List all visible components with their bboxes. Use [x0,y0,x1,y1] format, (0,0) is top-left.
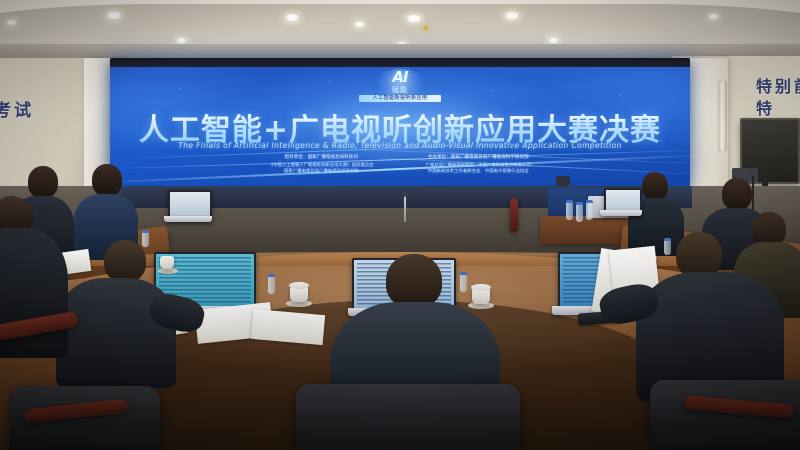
chair-wood-frame [510,198,518,232]
tea-cup-lid-icon [471,284,491,291]
led-screen-surface: AI 赋能 人工智能新视听新应用 人工智能+广电视听创新应用大赛决赛 The F… [110,67,690,186]
water-bottle-icon [576,202,583,222]
ceiling-spotlight [354,22,365,27]
attendee-torso [56,278,176,388]
document-papers [251,309,325,345]
office-chair-front[interactable] [296,384,520,450]
screen-title-english: The Finals of Artificial Intelligence & … [110,141,690,150]
right-wall-sign-line2: 特 [756,98,800,120]
wall-vent [718,80,727,152]
ceiling-indicator-light [424,26,428,30]
attendee-head [92,164,122,196]
organizer-column-left: 指导单位：国家广播电视总局科技司 《中国人工智能+广电视听创新应用大赛》组织委员… [269,155,374,174]
ceiling-spotlight [504,12,520,19]
attendee-head [104,240,146,282]
water-bottle-icon [142,230,149,247]
right-wall-sign: 特别前 特 [756,76,800,120]
ceiling-spotlight [708,14,719,19]
ceiling-spotlight [406,15,422,22]
organizer-right-head: 主办单位：国家广播电视总局广播电视科学研究院 [426,155,531,161]
ceiling-spotlight [548,38,559,43]
tea-cup-lid-icon [289,282,309,289]
ceiling-spotlight [106,12,122,19]
organizer-left-line: 国家广播电视总局广播电视科学研究院 [269,168,374,174]
organizer-left-head: 指导单位：国家广播电视总局科技司 [269,155,374,161]
organizer-right-line: 中国新闻技术工作者联合会、中国电子视像行业协会 [426,168,531,174]
water-bottle-icon [664,238,671,255]
conference-room-photo: 考试 特别前 特 AI 赋能 人工智能新视听新应用 人工智能+广电视听创新应用大… [0,0,800,450]
organizer-credits: 指导单位：国家广播电视总局科技司 《中国人工智能+广电视听创新应用大赛》组织委员… [110,155,690,174]
logo-band-text: 人工智能新视听新应用 [359,95,441,102]
logo-cn-text: 赋能 [352,86,448,94]
competition-logo: AI 赋能 人工智能新视听新应用 [352,69,448,103]
laptop-base [164,216,212,222]
attendee-head [386,254,442,308]
ceiling-camera-icon [556,176,570,186]
ceiling-spotlight [176,38,187,43]
tea-cup-icon [160,256,174,269]
ceiling [0,0,800,62]
organizer-column-right: 主办单位：国家广播电视总局广播电视科学研究院 广电总局广播电视规划院、中国广电网… [426,155,531,174]
water-bottle-icon [460,272,467,292]
ceiling-spotlight [284,14,300,21]
led-screen-bezel [110,58,690,67]
left-wall-sign: 考试 [0,96,34,121]
attendee-head [722,178,752,210]
logo-ai-text: AI [352,69,448,86]
ceiling-spotlight [6,20,17,25]
right-wall-sign-line1: 特别前 [756,76,800,98]
attendee-head [642,172,668,200]
attendee-head [0,196,28,232]
laptop-base [600,210,642,216]
led-stage-screen: AI 赋能 人工智能新视听新应用 人工智能+广电视听创新应用大赛决赛 The F… [110,58,690,186]
water-bottle-icon [586,200,593,220]
attendee-head [752,212,786,246]
microphone-head-icon [402,192,407,197]
water-bottle-icon [566,200,573,220]
attendee-head [28,166,58,198]
desk-microphone-icon [404,196,406,222]
water-bottle-icon [268,274,275,294]
